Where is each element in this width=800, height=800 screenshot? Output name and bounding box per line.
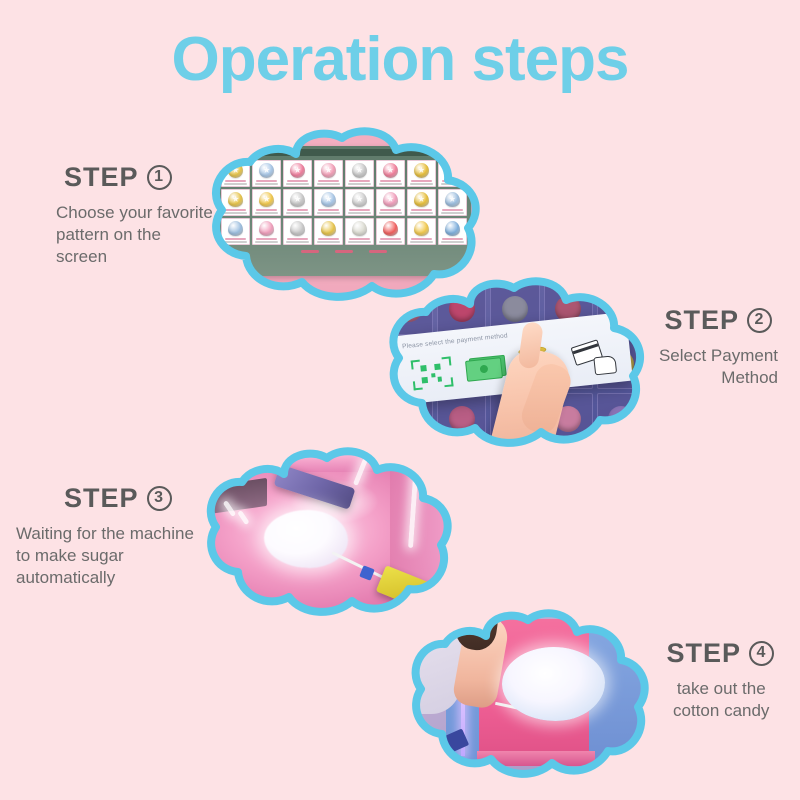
candy-pattern-card[interactable] [438, 189, 467, 216]
candy-icon [383, 192, 398, 207]
candy-icon [321, 192, 336, 207]
cloud-shape-4 [400, 608, 656, 784]
step-1-number: 1 [147, 165, 172, 190]
candy-pattern-card[interactable] [314, 218, 343, 245]
candy-pattern-card[interactable] [376, 189, 405, 216]
screen-status-bar [221, 250, 466, 253]
candy-pattern-card[interactable] [407, 189, 436, 216]
candy-icon [352, 163, 367, 178]
candy-icon [228, 221, 243, 236]
step-4-heading: STEP 4 [666, 638, 780, 669]
step-3-description: Waiting for the machine to make sugar au… [16, 523, 194, 589]
step-1-description: Choose your favorite pattern on the scre… [56, 202, 213, 268]
spinning-candy-photo [196, 448, 458, 620]
candy-pattern-card[interactable] [283, 189, 312, 216]
step-3-number: 3 [147, 486, 172, 511]
step-2-heading: STEP 2 [659, 305, 778, 336]
candy-pattern-card[interactable] [221, 218, 250, 245]
candy-icon [352, 221, 367, 236]
candy-icon [414, 163, 429, 178]
step-2-text-block: STEP 2 Select Payment Method [659, 305, 778, 389]
candy-pattern-card[interactable] [252, 189, 281, 216]
candy-pattern-card[interactable] [283, 160, 312, 187]
page-title: Operation steps [0, 26, 800, 94]
step-3-text-block: STEP 3 Waiting for the machine to make s… [16, 483, 194, 589]
candy-pattern-card[interactable] [314, 189, 343, 216]
candy-icon [352, 192, 367, 207]
candy-icon [445, 221, 460, 236]
finished-cotton-candy [502, 647, 604, 721]
banknote-icon[interactable] [465, 351, 508, 385]
step-2-description: Select Payment Method [659, 345, 778, 389]
infographic-canvas: Operation steps [0, 0, 800, 800]
step-4-description: take out the cotton candy [666, 678, 776, 722]
step-2-number: 2 [747, 308, 772, 333]
step-1-text-block: STEP 1 Choose your favorite pattern on t… [56, 162, 213, 268]
candy-pattern-screen[interactable] [217, 146, 470, 276]
payment-photo: Please select the payment method [378, 278, 652, 450]
candy-icon [228, 192, 243, 207]
step-4-label: STEP [666, 638, 741, 669]
candy-icon [290, 163, 305, 178]
candy-icon [259, 221, 274, 236]
candy-icon [259, 163, 274, 178]
step-1-heading: STEP 1 [56, 162, 213, 193]
step-4-text-block: STEP 4 take out the cotton candy [666, 638, 780, 722]
cloud-shape-3 [196, 448, 458, 620]
candy-pattern-card[interactable] [407, 160, 436, 187]
card-swipe-icon[interactable] [572, 341, 615, 375]
candy-pattern-card[interactable] [376, 218, 405, 245]
candy-pattern-card[interactable] [407, 218, 436, 245]
candy-icon [383, 163, 398, 178]
candy-pattern-card[interactable] [252, 160, 281, 187]
step-3-heading: STEP 3 [16, 483, 194, 514]
step-3-label: STEP [64, 483, 139, 514]
candy-pattern-card[interactable] [438, 218, 467, 245]
step-3-photo-cloud [196, 448, 458, 620]
candy-icon [259, 192, 274, 207]
step-4-photo-cloud [400, 608, 656, 784]
candy-icon [321, 221, 336, 236]
takeout-photo [400, 608, 656, 784]
candy-pattern-card[interactable] [345, 160, 374, 187]
candy-icon [321, 163, 336, 178]
candy-pattern-card[interactable] [345, 218, 374, 245]
candy-pattern-card[interactable] [252, 218, 281, 245]
candy-icon [383, 221, 398, 236]
step-2-label: STEP [664, 305, 739, 336]
candy-icon [414, 221, 429, 236]
candy-pattern-card[interactable] [376, 160, 405, 187]
cloud-shape-2: Please select the payment method [378, 278, 652, 450]
candy-pattern-grid[interactable] [221, 160, 466, 245]
step-4-number: 4 [749, 641, 774, 666]
candy-pattern-card[interactable] [314, 160, 343, 187]
qr-code-icon[interactable] [411, 356, 454, 390]
step-2-photo-cloud: Please select the payment method [378, 278, 652, 450]
step-1-label: STEP [64, 162, 139, 193]
candy-icon [445, 192, 460, 207]
candy-icon [290, 192, 305, 207]
candy-icon [290, 221, 305, 236]
candy-pattern-card[interactable] [345, 189, 374, 216]
candy-icon [414, 192, 429, 207]
candy-pattern-card[interactable] [283, 218, 312, 245]
